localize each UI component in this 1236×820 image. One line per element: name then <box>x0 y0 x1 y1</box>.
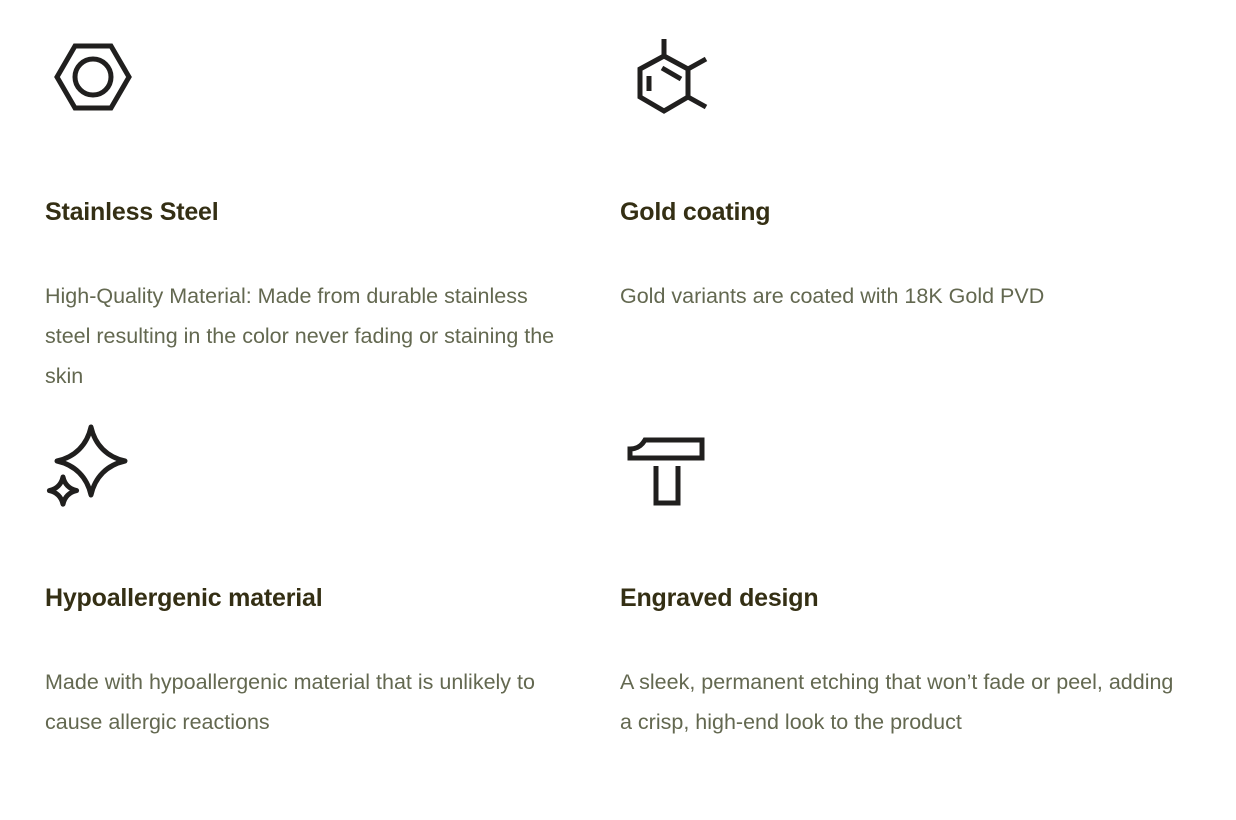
feature-card-hypoallergenic-material: Hypoallergenic material Made with hypoal… <box>0 392 620 784</box>
feature-card-stainless-steel: Stainless Steel High-Quality Material: M… <box>0 0 620 392</box>
feature-description: Gold variants are coated with 18K Gold P… <box>620 276 1180 316</box>
feature-grid: Stainless Steel High-Quality Material: M… <box>0 0 1236 784</box>
feature-card-engraved-design: Engraved design A sleek, permanent etchi… <box>620 392 1196 784</box>
hex-nut-icon <box>45 35 620 131</box>
sparkle-icon <box>45 419 620 515</box>
feature-title: Hypoallergenic material <box>45 585 620 613</box>
feature-title: Engraved design <box>620 585 1196 613</box>
feature-title: Stainless Steel <box>45 199 620 227</box>
feature-card-gold-coating: Gold coating Gold variants are coated wi… <box>620 0 1196 392</box>
benzene-ring-molecule-icon <box>620 35 1196 131</box>
feature-description: Made with hypoallergenic material that i… <box>45 662 575 742</box>
feature-description: A sleek, permanent etching that won’t fa… <box>620 662 1180 742</box>
feature-title: Gold coating <box>620 199 1196 227</box>
hammer-icon <box>620 419 1196 515</box>
feature-description: High-Quality Material: Made from durable… <box>45 276 575 396</box>
